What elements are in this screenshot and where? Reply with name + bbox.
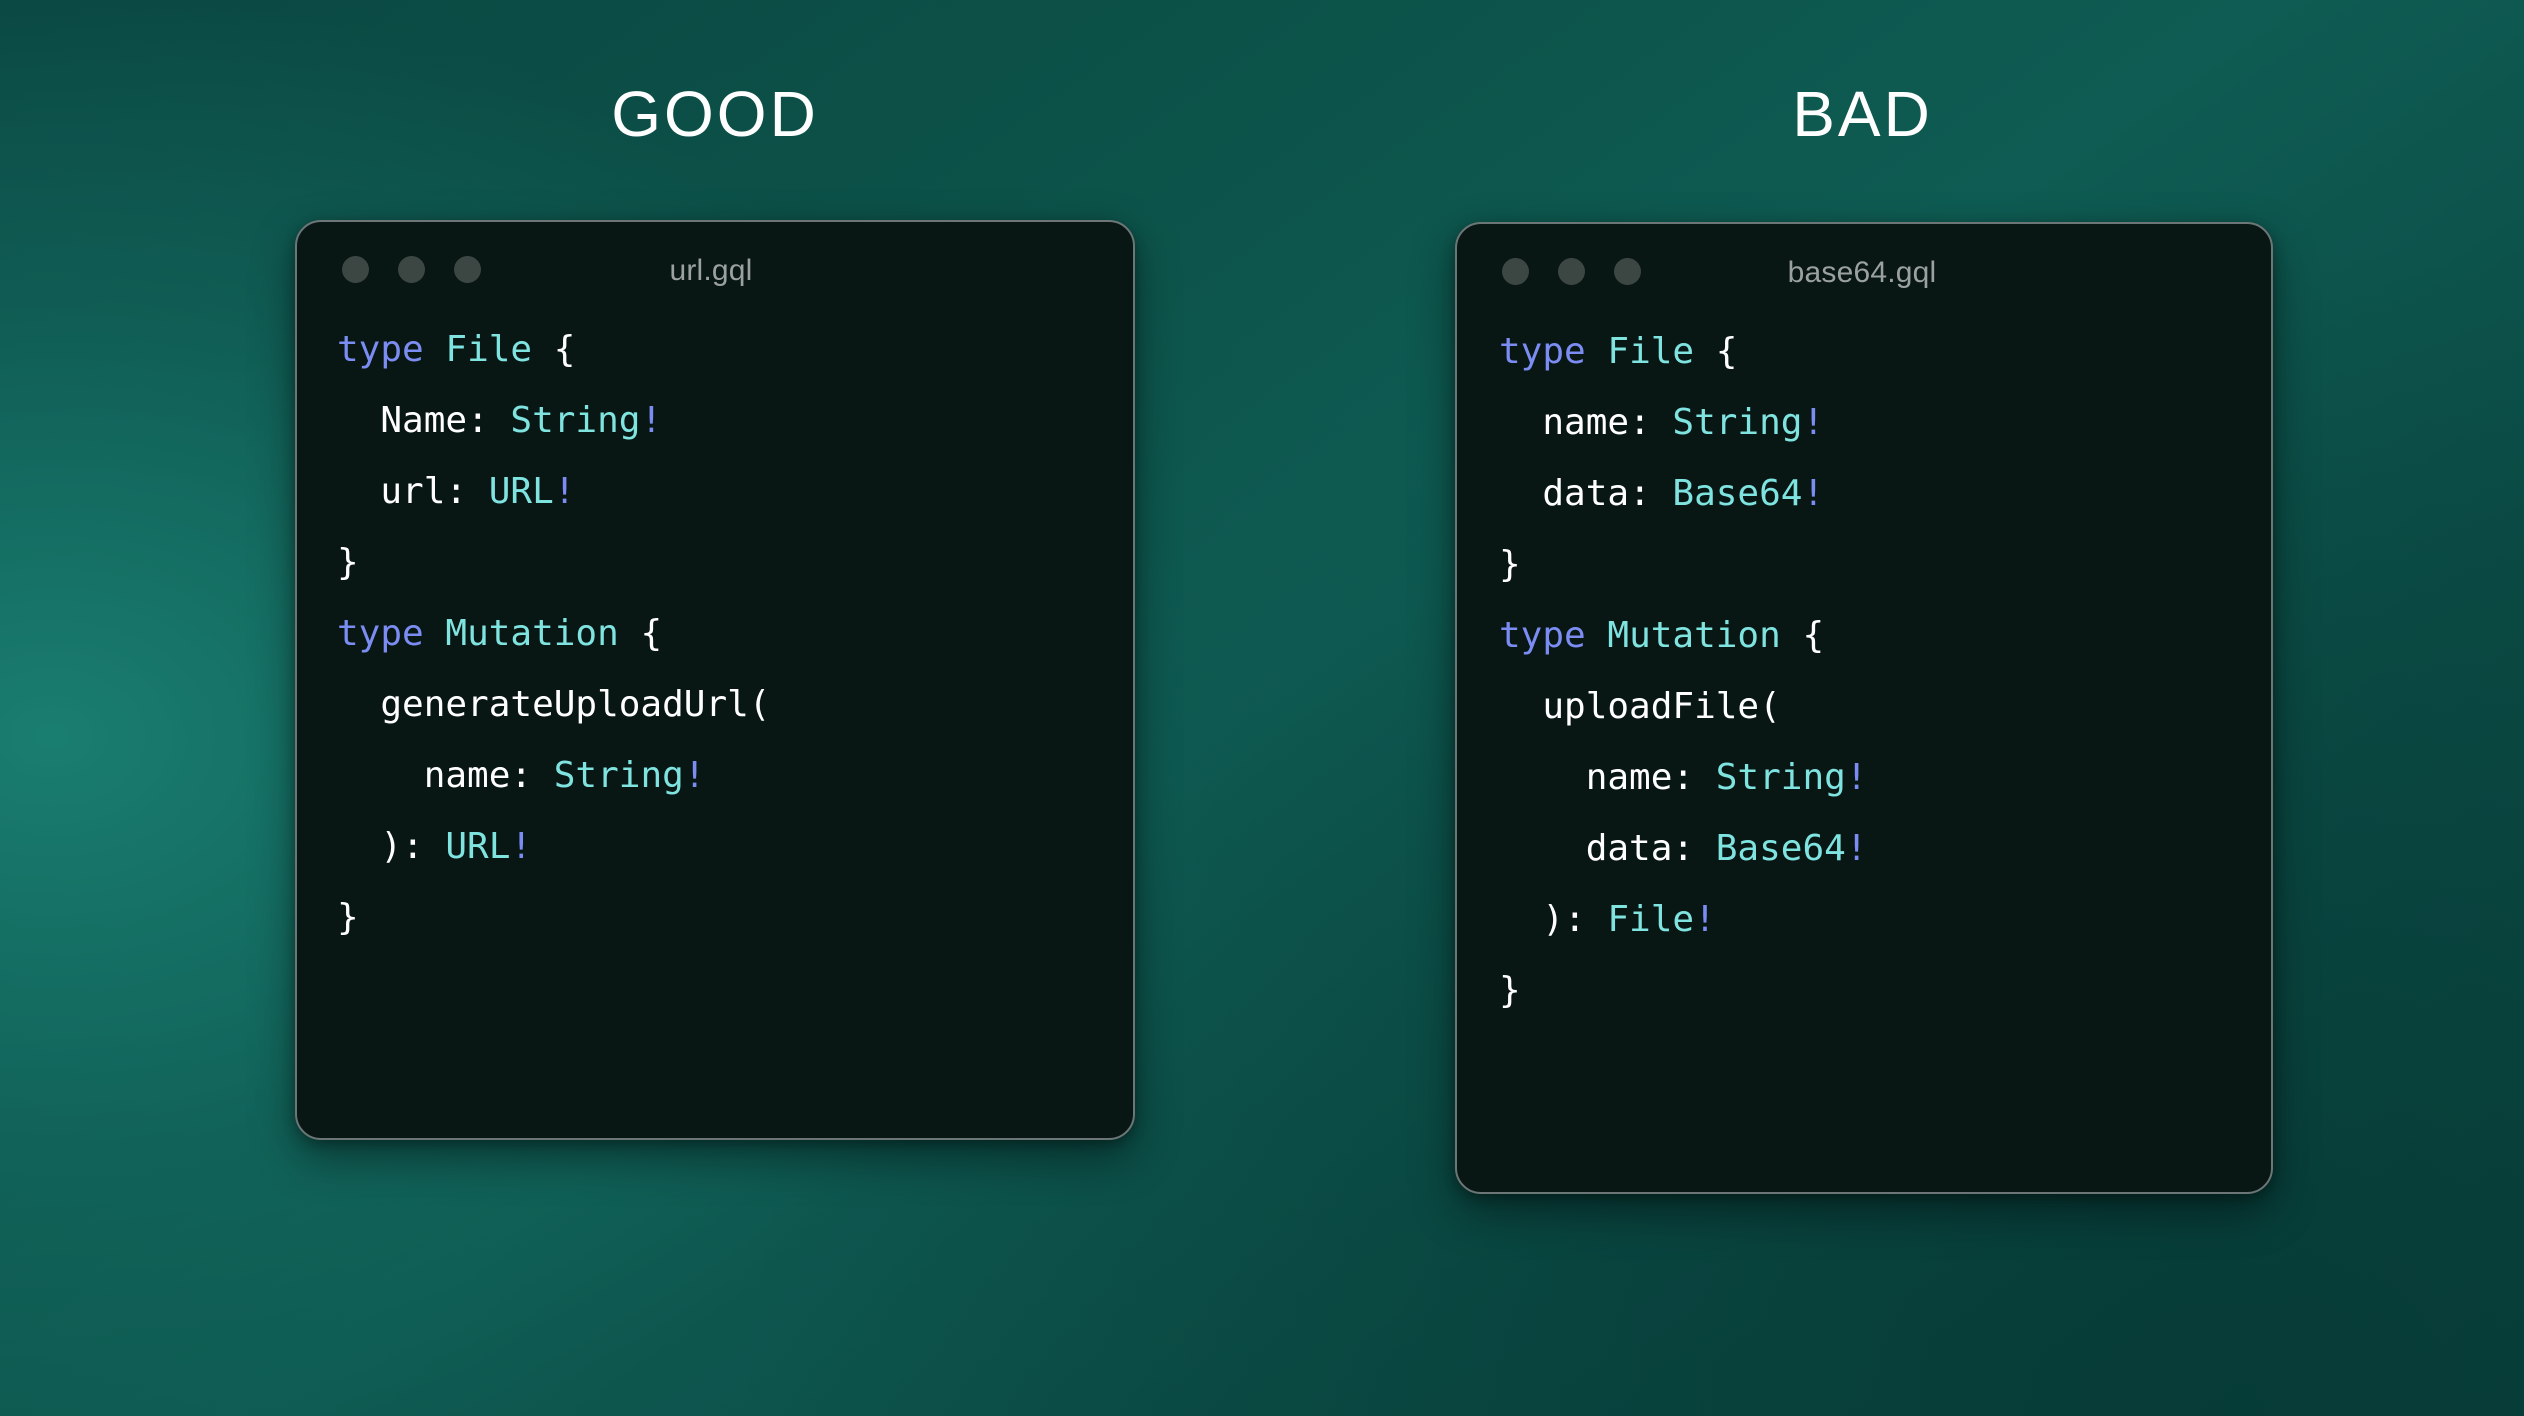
code-token: ! (1802, 473, 1824, 514)
titlebar-bad: base64.gql (1457, 224, 2271, 316)
code-token (424, 329, 446, 370)
code-token: Name: (337, 400, 510, 441)
code-token: name: (337, 755, 554, 796)
code-token: Mutation (1607, 615, 1780, 656)
code-token: File (1607, 899, 1694, 940)
code-token: String (1672, 402, 1802, 443)
code-token (424, 613, 446, 654)
code-token: type (337, 329, 424, 370)
window-filename-good: url.gql (297, 254, 1133, 288)
code-token: File (445, 329, 532, 370)
code-token (1586, 331, 1608, 372)
code-token: String (510, 400, 640, 441)
code-window-bad[interactable]: base64.gql type File { name: String! dat… (1455, 222, 2273, 1194)
code-token: ): (1499, 899, 1607, 940)
code-token: type (337, 613, 424, 654)
code-token: data: (1499, 828, 1716, 869)
code-token: { (1781, 615, 1824, 656)
code-token: { (532, 329, 575, 370)
code-token: ! (1846, 828, 1868, 869)
slide-canvas: GOOD url.gql type File { Name: String! u… (0, 0, 2524, 1416)
titlebar-good: url.gql (297, 222, 1133, 314)
code-token: } (1499, 544, 1521, 585)
code-token: type (1499, 615, 1586, 656)
code-token: URL (489, 471, 554, 512)
code-token: name: (1499, 757, 1716, 798)
code-token: name: (1499, 402, 1672, 443)
window-filename-bad: base64.gql (1457, 256, 2271, 290)
code-token: ! (684, 755, 706, 796)
code-token: String (554, 755, 684, 796)
code-token: { (1694, 331, 1737, 372)
code-token: ! (510, 826, 532, 867)
code-token: data: (1499, 473, 1672, 514)
code-token: ! (1802, 402, 1824, 443)
code-token: Mutation (445, 613, 618, 654)
code-window-good[interactable]: url.gql type File { Name: String! url: U… (295, 220, 1135, 1140)
code-token: uploadFile( (1499, 686, 1781, 727)
code-token: } (337, 897, 359, 938)
code-token: } (337, 542, 359, 583)
code-token: ! (554, 471, 576, 512)
code-token: Base64 (1716, 828, 1846, 869)
code-token: url: (337, 471, 489, 512)
code-token: String (1716, 757, 1846, 798)
code-token: ! (1846, 757, 1868, 798)
code-block-good[interactable]: type File { Name: String! url: URL! } ty… (297, 314, 1133, 953)
code-token: ): (337, 826, 445, 867)
code-token: type (1499, 331, 1586, 372)
code-token: URL (445, 826, 510, 867)
code-token (1586, 615, 1608, 656)
code-token: Base64 (1672, 473, 1802, 514)
code-token: File (1607, 331, 1694, 372)
code-block-bad[interactable]: type File { name: String! data: Base64! … (1457, 316, 2271, 1026)
code-token: { (619, 613, 662, 654)
code-token: generateUploadUrl( (337, 684, 770, 725)
code-token: } (1499, 970, 1521, 1011)
code-token: ! (640, 400, 662, 441)
code-token: ! (1694, 899, 1716, 940)
verdict-label-good: GOOD (295, 82, 1135, 146)
verdict-label-bad: BAD (1455, 82, 2270, 146)
